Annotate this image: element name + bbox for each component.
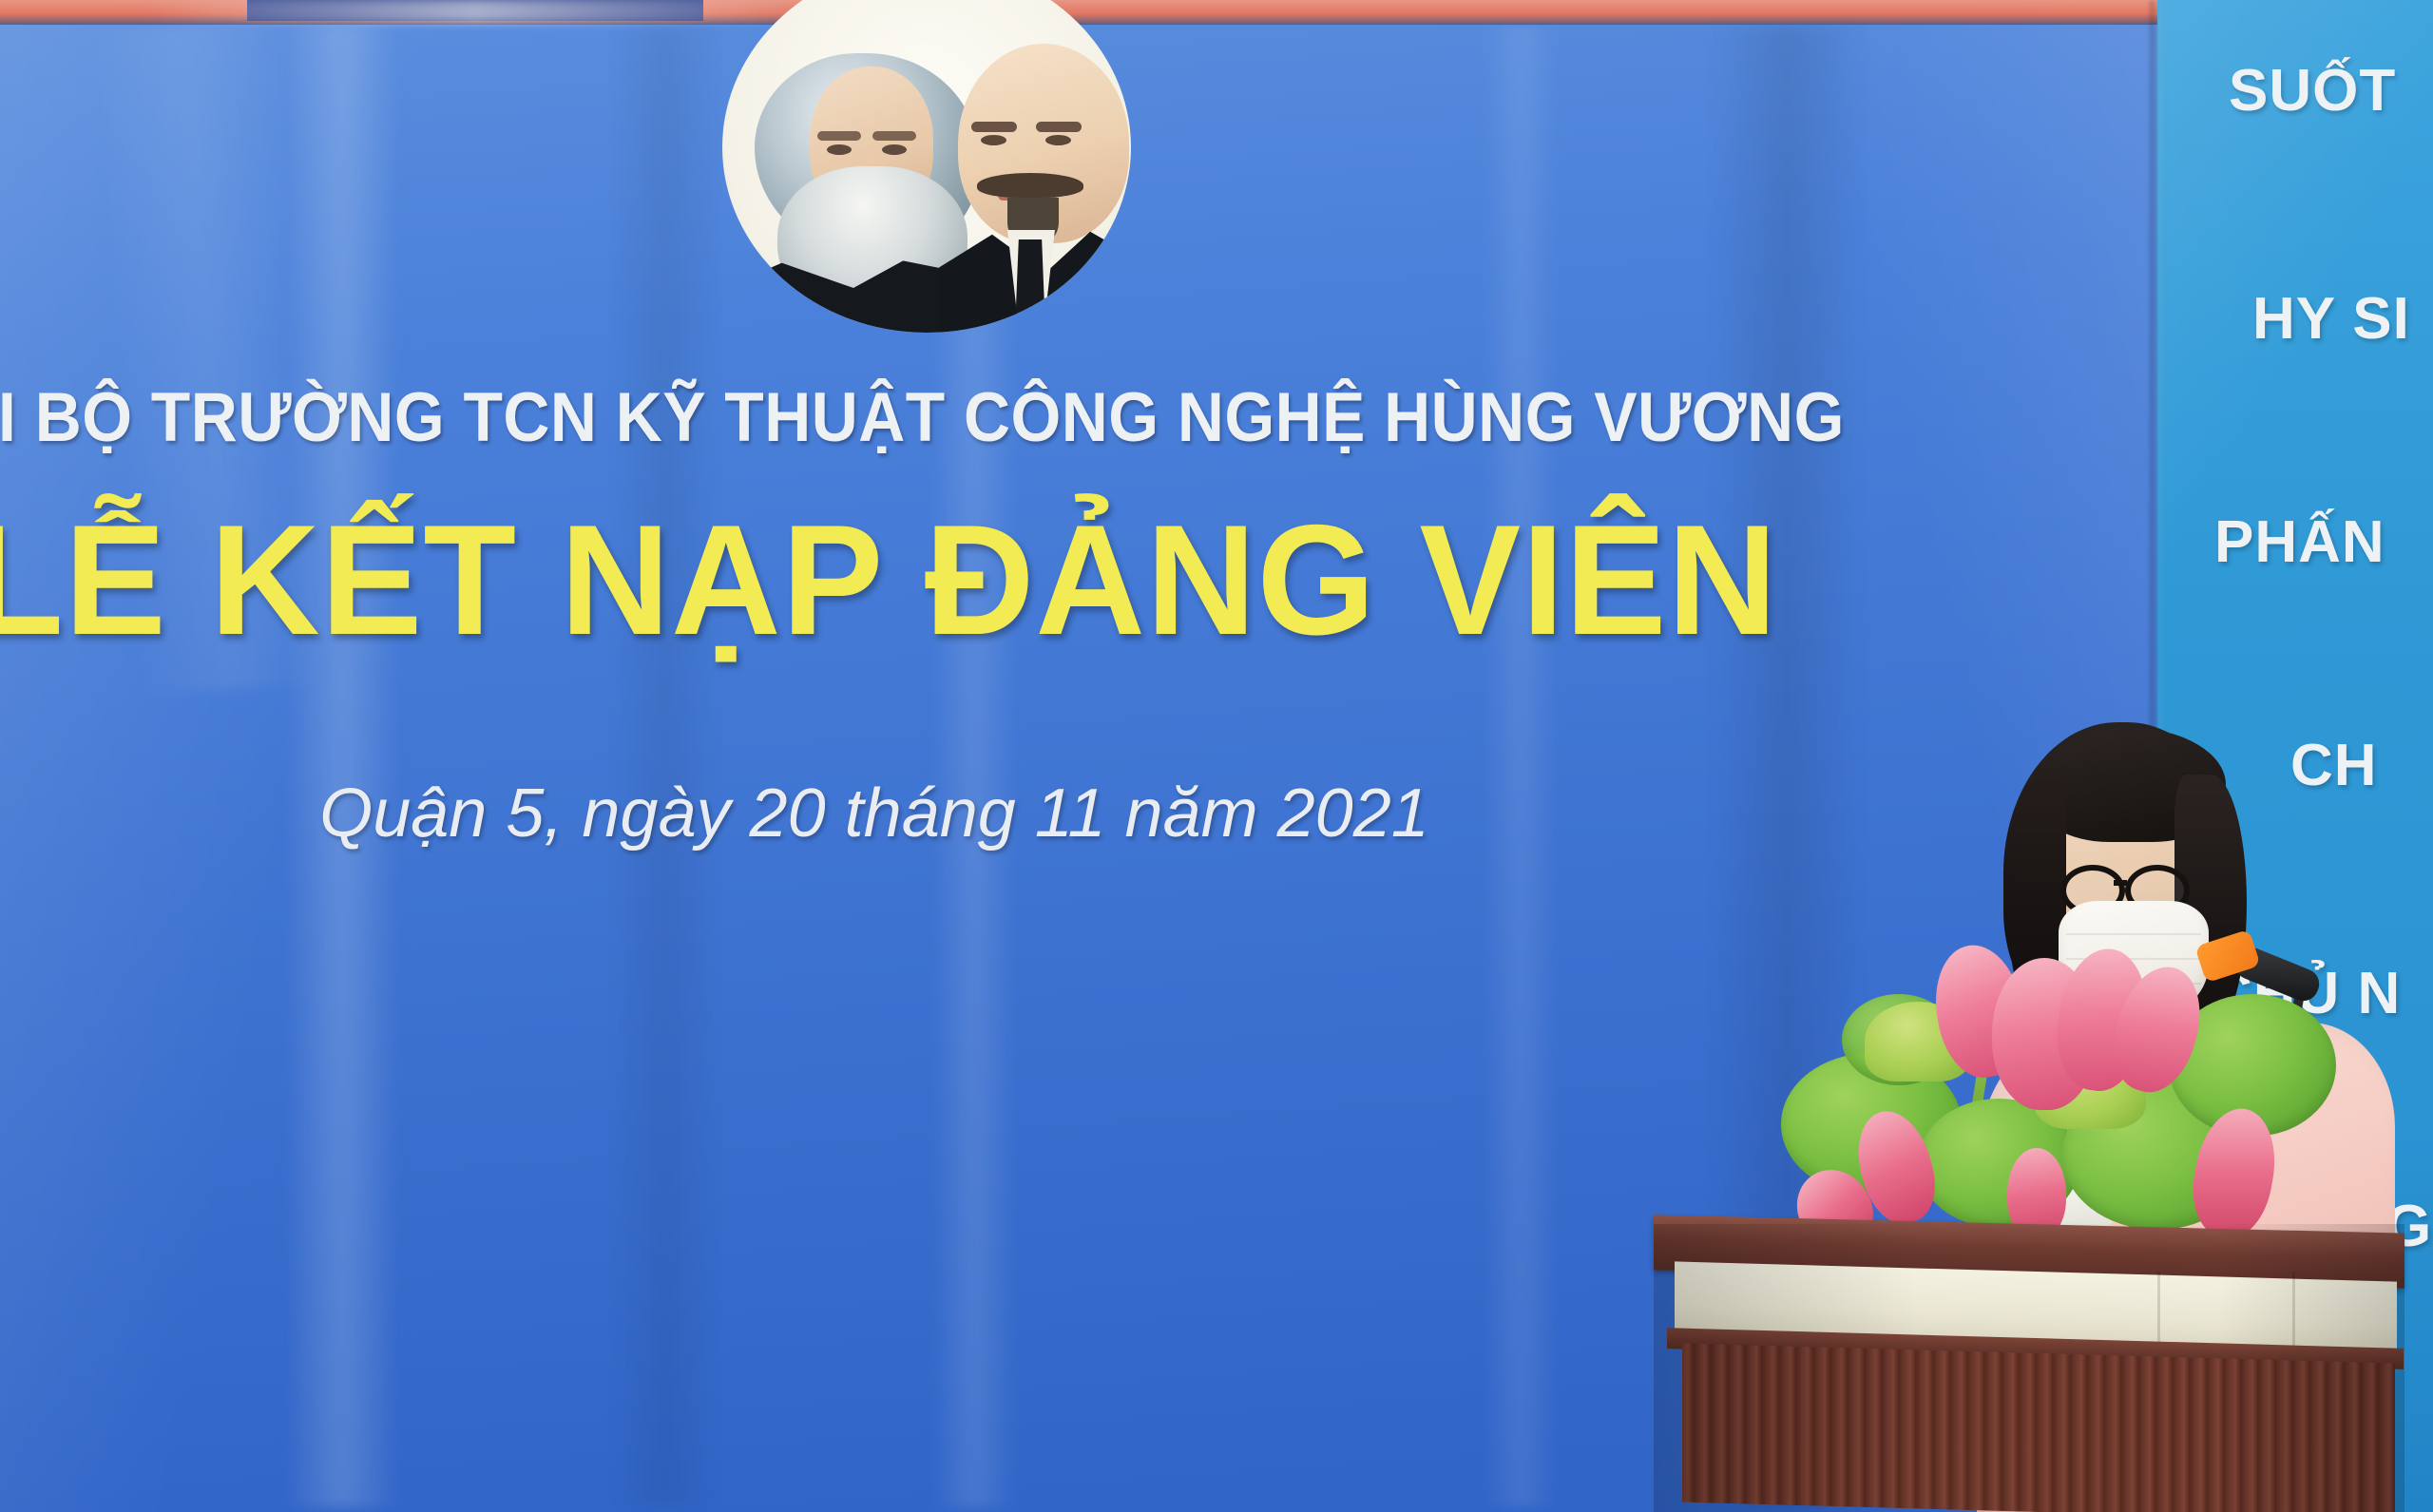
lenin-eye-left <box>981 135 1006 145</box>
lenin-moustache <box>977 173 1083 198</box>
photo-scene: SUỐT HY SI PHẤN CH CHỦ N ÔNG C <box>0 0 2433 1512</box>
side-slogan-line-1: SUỐT <box>2229 57 2396 124</box>
banner-organization-line: CHI BỘ TRƯỜNG TCN KỸ THUẬT CÔNG NGHỆ HÙN… <box>0 378 1891 457</box>
lenin-necktie <box>1015 239 1045 331</box>
fabric-crease <box>285 25 399 1507</box>
banner-title: LỄ KẾT NẠP ĐẢNG VIÊN <box>0 502 1935 659</box>
side-slogan-line-2: HY SI <box>2252 285 2410 353</box>
backdrop-top-highlight <box>143 0 808 23</box>
lenin-eye-right <box>1045 135 1071 145</box>
lenin-brow-right <box>1036 122 1082 132</box>
marx-eye-left <box>827 144 852 155</box>
marx-eye-right <box>882 144 907 155</box>
marx-brow-left <box>817 131 861 141</box>
side-slogan-line-3: PHẤN <box>2214 508 2385 576</box>
marx-brow-right <box>872 131 916 141</box>
podium-shading <box>1654 1224 2404 1512</box>
lotus-bouquet <box>1749 931 2357 1245</box>
wooden-podium <box>1654 1224 2404 1512</box>
fabric-crease <box>1483 25 1559 1507</box>
lenin-brow-left <box>971 122 1017 132</box>
marx-lenin-portrait <box>722 0 1131 333</box>
banner-date-line: Quận 5, ngày 20 tháng 11 năm 2021 <box>0 775 1967 852</box>
eyeglasses-bridge <box>2114 880 2127 886</box>
fabric-crease-shadow <box>608 25 722 1507</box>
